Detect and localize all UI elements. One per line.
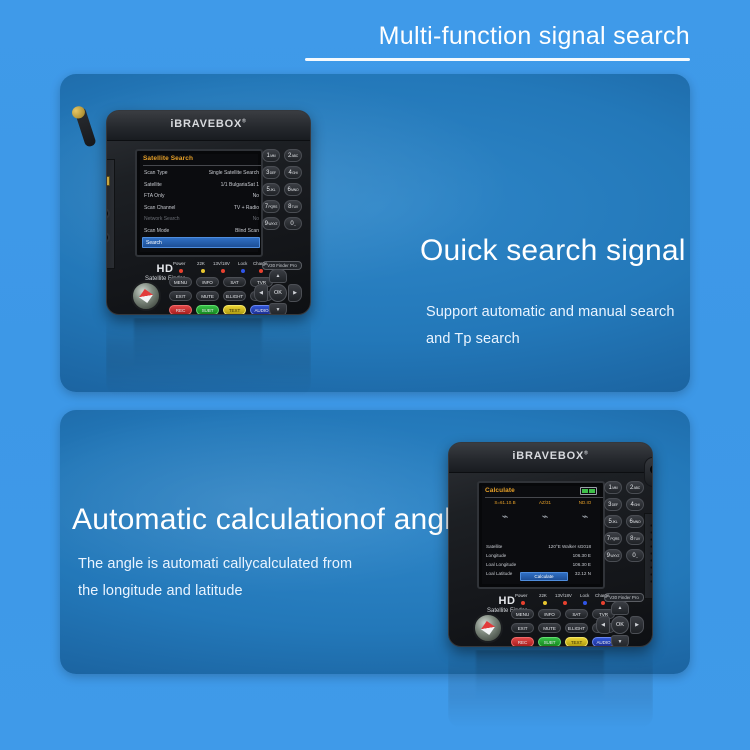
battery-icon bbox=[580, 487, 597, 495]
exit-button[interactable]: EXIT bbox=[169, 291, 192, 301]
key-0-letters: _ bbox=[294, 222, 296, 226]
brand-logo: iBRAVEBOX® bbox=[449, 450, 652, 462]
key-3[interactable]: 3DEF bbox=[604, 498, 622, 511]
marketing-page: Multi-function signal search Ouick searc… bbox=[0, 0, 750, 750]
key-5[interactable]: 5JKL bbox=[262, 183, 280, 196]
key-9[interactable]: 9WXYZ bbox=[262, 217, 280, 230]
menu-button[interactable]: MENU bbox=[169, 277, 192, 287]
numeric-keypad: 1MM 2ABC 3DEF 4GHI 5JKL 6MNO 7PQRS 8TUV … bbox=[262, 149, 304, 259]
key-1-letters: MM bbox=[270, 154, 275, 158]
key-7-letters: PQRS bbox=[610, 537, 619, 541]
dpad-up-icon[interactable]: ▲ bbox=[269, 269, 287, 283]
satellite-finder-device: iBRAVEBOX® Satellite Search Scan Type Si… bbox=[106, 110, 311, 315]
led-label-charge: Charge bbox=[595, 593, 609, 598]
calc-column-1-heading: S=61.10.B bbox=[485, 500, 525, 505]
calc-row-value: 106.30 E bbox=[573, 553, 591, 558]
key-5-letters: JKL bbox=[612, 520, 617, 524]
reflection-screen bbox=[134, 318, 262, 366]
port-column bbox=[106, 159, 115, 269]
led-voltage-icon bbox=[221, 269, 225, 273]
compass-icon bbox=[473, 613, 503, 643]
dish-icon-2: ⌁ bbox=[525, 512, 565, 523]
dish-icon-1: ⌁ bbox=[485, 512, 525, 523]
device-photo-1: iBRAVEBOX® Satellite Search Scan Type Si… bbox=[88, 100, 328, 330]
menu-row-value: No bbox=[253, 193, 259, 199]
panel-1-title: Ouick search signal bbox=[420, 234, 686, 268]
key-4-letters: GHI bbox=[292, 171, 297, 175]
menu-row-label: Network Search bbox=[144, 216, 180, 222]
menu-row-label: Scan Type bbox=[144, 170, 168, 176]
calc-column-3: ND.IO ⌁ bbox=[565, 500, 605, 523]
panel-2-subtitle-line-2: the longitude and latitude bbox=[78, 583, 243, 599]
key-7-letters: PQRS bbox=[268, 205, 277, 209]
menu-row-label: Scan Mode bbox=[144, 228, 169, 234]
calc-row[interactable]: Loal Longitude 106.30 E bbox=[485, 562, 605, 571]
led-label-power: Power bbox=[173, 261, 185, 266]
exit-button[interactable]: EXIT bbox=[511, 623, 534, 633]
menu-row-label: Scan Channel bbox=[144, 205, 175, 211]
key-2[interactable]: 2ABC bbox=[284, 149, 302, 162]
brand-logo: iBRAVEBOX® bbox=[107, 118, 310, 130]
key-5-letters: JKL bbox=[270, 188, 275, 192]
title-underline bbox=[305, 58, 690, 61]
menu-row[interactable]: Satellite 1/1 BulgariaSat 1 bbox=[143, 181, 263, 193]
key-8-letters: TUV bbox=[634, 537, 640, 541]
key-4[interactable]: 4GHI bbox=[626, 498, 644, 511]
key-8-letters: TUV bbox=[292, 205, 298, 209]
key-3[interactable]: 3DEF bbox=[262, 166, 280, 179]
screen-search-button[interactable]: Search bbox=[142, 237, 260, 248]
calculate-columns: S=61.10.B ⌁ AZ/31 ⌁ ND.IO ⌁ bbox=[485, 500, 605, 542]
screen-inner: Calculate S=61.10.B ⌁ AZ/31 ⌁ N bbox=[482, 486, 600, 584]
calc-column-2-heading: AZ/31 bbox=[525, 500, 565, 505]
key-9[interactable]: 9WXYZ bbox=[604, 549, 622, 562]
key-6[interactable]: 6MNO bbox=[626, 515, 644, 528]
page-title: Multi-function signal search bbox=[379, 22, 690, 51]
key-2-letters: ABC bbox=[292, 154, 298, 158]
calc-row-value: 106.30 E bbox=[573, 562, 591, 567]
key-6[interactable]: 6MNO bbox=[284, 183, 302, 196]
subt-button[interactable]: SUBT bbox=[538, 637, 561, 647]
key-5[interactable]: 5JKL bbox=[604, 515, 622, 528]
screen-title-underline bbox=[485, 497, 603, 498]
dpad-down-icon[interactable]: ▼ bbox=[611, 635, 629, 647]
device-screen-calculate[interactable]: Calculate S=61.10.B ⌁ AZ/31 ⌁ N bbox=[477, 481, 605, 589]
text-button[interactable]: TEXT bbox=[223, 305, 246, 315]
menu-row-value: No bbox=[253, 216, 259, 222]
mute-button[interactable]: MUTE bbox=[196, 291, 219, 301]
key-2[interactable]: 2ABC bbox=[626, 481, 644, 494]
key-8[interactable]: 8TUV bbox=[626, 532, 644, 545]
dpad-right-icon[interactable]: ▶ bbox=[288, 284, 302, 302]
calc-row-label: Loal Latitude bbox=[486, 571, 512, 576]
screen-title: Calculate bbox=[485, 487, 515, 494]
led-power-icon bbox=[179, 269, 183, 273]
ok-button[interactable]: OK bbox=[611, 616, 629, 634]
dc-jack-icon-1 bbox=[106, 208, 110, 219]
calculate-button-label: Calculate bbox=[521, 574, 567, 579]
info-button[interactable]: INFO bbox=[196, 277, 219, 287]
panel-1-subtitle-line-1: Support automatic and manual search bbox=[426, 304, 675, 320]
calc-column-2: AZ/31 ⌁ bbox=[525, 500, 565, 523]
menu-row-value: Single Satellite Search bbox=[209, 170, 259, 176]
subt-button[interactable]: SUBT bbox=[196, 305, 219, 315]
device-reflection bbox=[106, 318, 311, 396]
brand-name: iBRAVEBOX bbox=[512, 450, 584, 462]
calc-row-label: Satellite bbox=[486, 544, 502, 549]
key-7[interactable]: 7PQRS bbox=[604, 532, 622, 545]
dpad-navigation: ▲ ▼ ◀ ▶ OK bbox=[254, 269, 302, 315]
menu-row-value: 1/1 BulgariaSat 1 bbox=[221, 182, 259, 188]
key-4[interactable]: 4GHI bbox=[284, 166, 302, 179]
led-label-lock: Lock bbox=[580, 593, 589, 598]
sat-button[interactable]: SAT bbox=[223, 277, 246, 287]
calc-row[interactable]: Longitude 106.30 E bbox=[485, 553, 605, 562]
rec-button[interactable]: REC bbox=[511, 637, 534, 647]
calculate-button[interactable]: Calculate bbox=[520, 572, 568, 581]
dpad-left-icon[interactable]: ◀ bbox=[596, 616, 610, 634]
led-lock-icon bbox=[583, 601, 587, 605]
menu-row-value: Blind Scan bbox=[235, 228, 259, 234]
menu-row-label: FTA Only bbox=[144, 193, 164, 199]
calc-row-label: Loal Longitude bbox=[486, 562, 516, 567]
calc-row[interactable]: Satellite 120°E Walker sG018 bbox=[485, 544, 605, 553]
satellite-finder-device: iBRAVEBOX® Calculate S=61.10.B ⌁ AZ/ bbox=[448, 442, 653, 647]
panel-2-subtitle-line-1: The angle is automati callycalculated fr… bbox=[78, 556, 352, 572]
screen-menu-rows: Scan Type Single Satellite Search Satell… bbox=[143, 169, 263, 238]
led-label-power: Power bbox=[515, 593, 527, 598]
dc-jack-icon-2 bbox=[106, 232, 110, 243]
led-label-charge: Charge bbox=[253, 261, 267, 266]
device-screen-search[interactable]: Satellite Search Scan Type Single Satell… bbox=[135, 149, 263, 257]
menu-row-disabled: Network Search No bbox=[143, 215, 263, 227]
compass-icon bbox=[131, 281, 161, 311]
screen-search-button-label: Search bbox=[146, 240, 162, 246]
key-3-letters: DEF bbox=[612, 503, 618, 507]
key-9-letters: WXYZ bbox=[610, 554, 619, 558]
menu-row[interactable]: FTA Only No bbox=[143, 192, 263, 204]
led-label-voltage: 13V/18V bbox=[555, 593, 572, 598]
ok-button[interactable]: OK bbox=[269, 284, 287, 302]
dpad-left-icon[interactable]: ◀ bbox=[254, 284, 268, 302]
led-voltage-icon bbox=[563, 601, 567, 605]
panel-1-subtitle-line-2: and Tp search bbox=[426, 331, 520, 347]
dpad-down-icon[interactable]: ▼ bbox=[269, 303, 287, 315]
menu-button[interactable]: MENU bbox=[511, 609, 534, 619]
brand-trademark: ® bbox=[242, 118, 246, 124]
dpad-navigation: ▲ ▼ ◀ ▶ OK bbox=[596, 601, 644, 647]
key-4-letters: GHI bbox=[634, 503, 639, 507]
screen-title-underline bbox=[143, 165, 261, 166]
led-22k-icon bbox=[543, 601, 547, 605]
text-button[interactable]: TEXT bbox=[565, 637, 588, 647]
usb-port-icon bbox=[106, 176, 110, 186]
key-0-letters: _ bbox=[636, 554, 638, 558]
numeric-keypad: 1MM 2ABC 3DEF 4GHI 5JKL 6MNO 7PQRS 8TUV … bbox=[604, 481, 646, 591]
calc-column-1: S=61.10.B ⌁ bbox=[485, 500, 525, 523]
led-lock-icon bbox=[241, 269, 245, 273]
menu-row-label: Satellite bbox=[144, 182, 162, 188]
key-9-letters: WXYZ bbox=[268, 222, 277, 226]
device-reflection bbox=[448, 650, 653, 728]
info-button[interactable]: INFO bbox=[538, 609, 561, 619]
key-1-letters: MM bbox=[612, 486, 617, 490]
calc-row-label: Longitude bbox=[486, 553, 506, 558]
menu-row[interactable]: Scan Type Single Satellite Search bbox=[143, 169, 263, 181]
brand-name: iBRAVEBOX bbox=[170, 118, 242, 130]
key-6-letters: MNO bbox=[633, 520, 640, 524]
led-label-22k: 22K bbox=[539, 593, 547, 598]
device-photo-2: iBRAVEBOX® Calculate S=61.10.B ⌁ AZ/ bbox=[430, 432, 670, 662]
calc-column-3-heading: ND.IO bbox=[565, 500, 605, 505]
menu-row[interactable]: Scan Channel TV + Radio bbox=[143, 204, 263, 216]
key-1[interactable]: 1MM bbox=[604, 481, 622, 494]
reflection-screen bbox=[476, 650, 604, 698]
key-0[interactable]: 0_ bbox=[284, 217, 302, 230]
led-label-voltage: 13V/18V bbox=[213, 261, 230, 266]
key-7[interactable]: 7PQRS bbox=[262, 200, 280, 213]
dpad-right-icon[interactable]: ▶ bbox=[630, 616, 644, 634]
key-6-letters: MNO bbox=[291, 188, 298, 192]
page-header: Multi-function signal search bbox=[0, 10, 750, 68]
rec-button[interactable]: REC bbox=[169, 305, 192, 315]
sat-button[interactable]: SAT bbox=[565, 609, 588, 619]
panel-2-title: Automatic calculationof angle bbox=[72, 503, 468, 537]
dish-icon-3: ⌁ bbox=[565, 512, 605, 523]
led-label-lock: Lock bbox=[238, 261, 247, 266]
calc-row-value: 120°E Walker sG018 bbox=[548, 544, 591, 549]
screen-inner: Satellite Search Scan Type Single Satell… bbox=[140, 154, 258, 252]
backlight-button[interactable]: B.LIGHT bbox=[223, 291, 246, 301]
key-2-letters: ABC bbox=[634, 486, 640, 490]
key-8[interactable]: 8TUV bbox=[284, 200, 302, 213]
dpad-up-icon[interactable]: ▲ bbox=[611, 601, 629, 615]
key-0[interactable]: 0_ bbox=[626, 549, 644, 562]
mute-button[interactable]: MUTE bbox=[538, 623, 561, 633]
led-22k-icon bbox=[201, 269, 205, 273]
screen-title: Satellite Search bbox=[143, 155, 193, 162]
backlight-button[interactable]: B.LIGHT bbox=[565, 623, 588, 633]
menu-row-value: TV + Radio bbox=[234, 205, 259, 211]
calc-row-value: 32.12 N bbox=[575, 571, 591, 576]
brand-trademark: ® bbox=[584, 450, 588, 456]
led-power-icon bbox=[521, 601, 525, 605]
key-1[interactable]: 1MM bbox=[262, 149, 280, 162]
key-3-letters: DEF bbox=[270, 171, 276, 175]
led-label-22k: 22K bbox=[197, 261, 205, 266]
